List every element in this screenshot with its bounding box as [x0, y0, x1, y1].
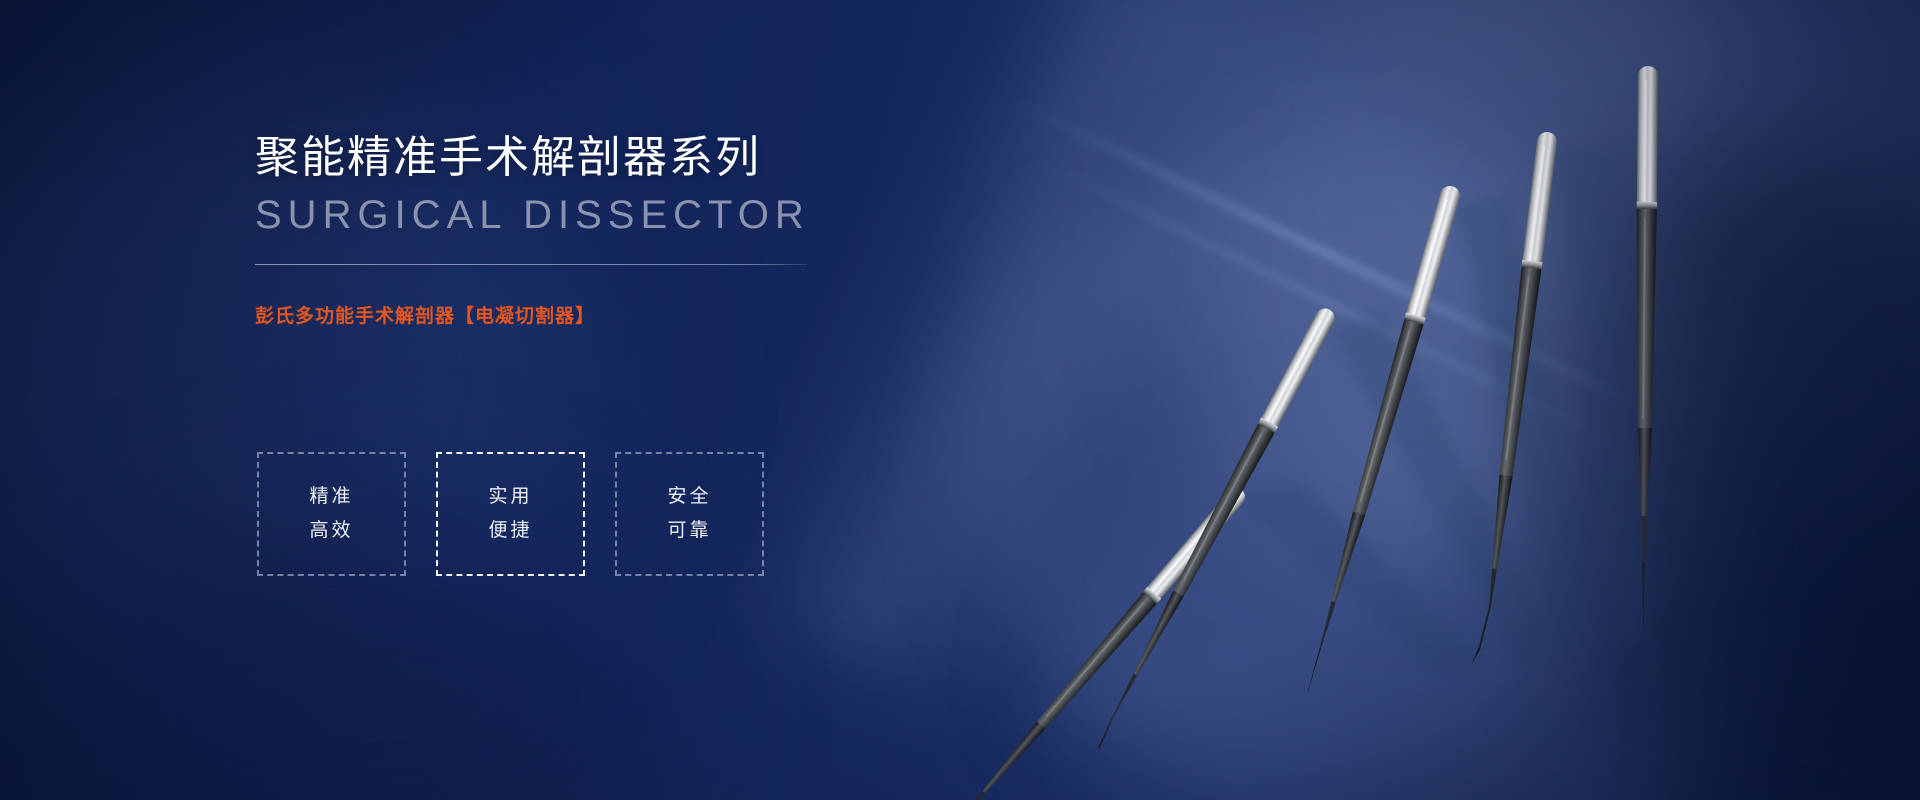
feature-box-practical: 实用 便捷 [436, 452, 585, 576]
feature-line-2: 可靠 [667, 517, 711, 546]
feature-line-2: 高效 [309, 517, 353, 546]
background-gradient [0, 0, 1920, 800]
page-title: 聚能精准手术解剖器系列 [255, 132, 875, 184]
title-divider [255, 264, 807, 265]
page-title-english: SURGICAL DISSECTOR [255, 192, 875, 238]
feature-line-2: 便捷 [488, 517, 532, 546]
feature-line-1: 安全 [667, 483, 711, 512]
product-subtitle: 彭氏多功能手术解剖器【电凝切割器】 [255, 301, 875, 328]
feature-line-1: 实用 [488, 483, 532, 512]
banner-text-block: 聚能精准手术解剖器系列 SURGICAL DISSECTOR 彭氏多功能手术解剖… [255, 132, 875, 328]
feature-box-group: 精准 高效 实用 便捷 安全 可靠 [257, 452, 764, 576]
hero-banner: 聚能精准手术解剖器系列 SURGICAL DISSECTOR 彭氏多功能手术解剖… [0, 0, 1920, 800]
feature-line-1: 精准 [309, 483, 353, 512]
feature-box-precision: 精准 高效 [257, 452, 406, 576]
feature-box-safety: 安全 可靠 [615, 452, 764, 576]
